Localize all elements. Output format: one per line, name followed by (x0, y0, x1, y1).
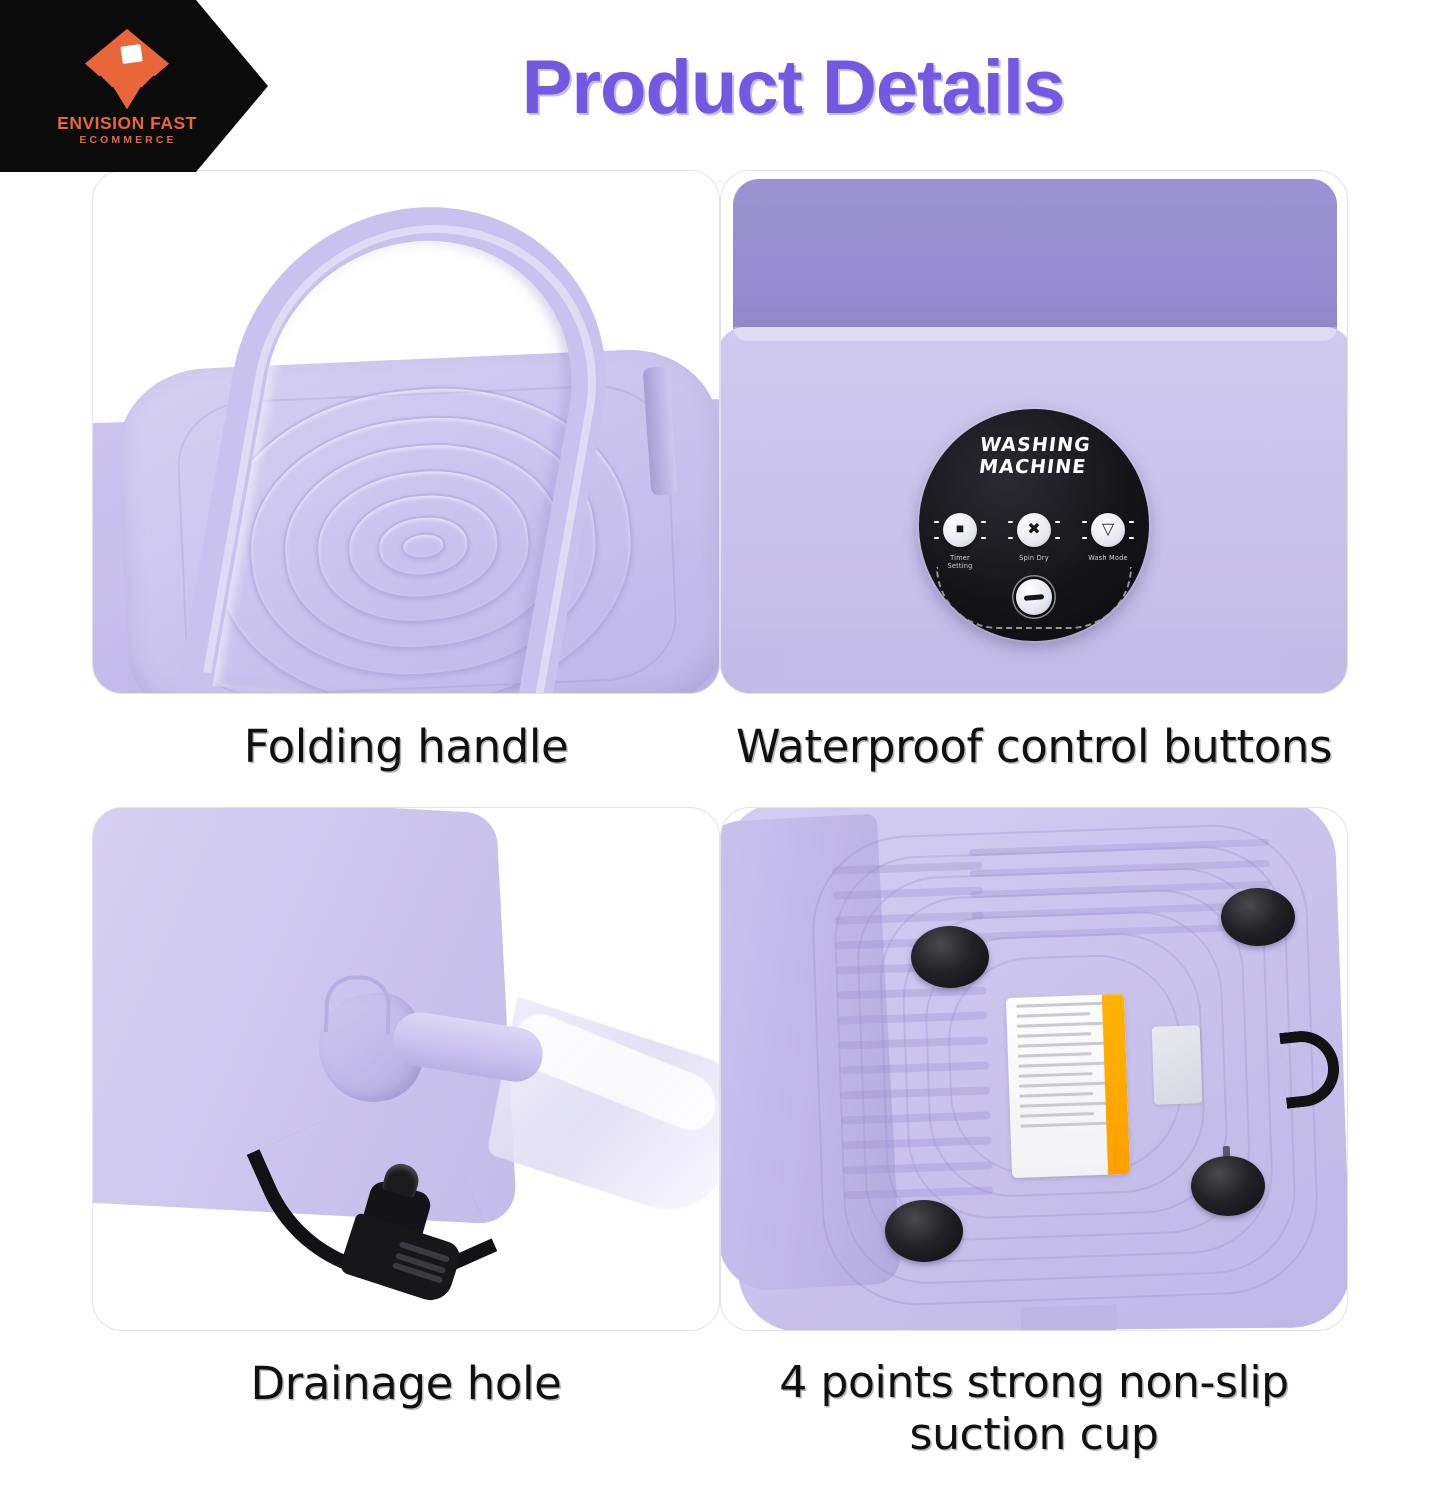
detail-cell-control-buttons: WASHING MACHINE ⏹ Timer (720, 170, 1348, 773)
detail-cell-folding-handle: Folding handle (92, 170, 720, 773)
washer-lid (733, 179, 1337, 339)
control-button-timer[interactable]: ⏹ Timer Setting (938, 513, 982, 570)
detail-cell-suction-cup: 4 points strong non-slip suction cup (720, 807, 1348, 1461)
control-button-spin-dry[interactable]: ✖ Spin Dry (1012, 513, 1056, 570)
detail-cell-drainage-hole: Drainage hole (92, 807, 720, 1461)
caption-line-1: 4 points strong non-slip (720, 1357, 1348, 1409)
control-button-label: Wash Mode (1086, 554, 1130, 562)
control-panel[interactable]: WASHING MACHINE ⏹ Timer (919, 409, 1149, 641)
detail-row: Folding handle WASHING MACHINE (0, 170, 1436, 773)
control-panel-brand: WASHING MACHINE (919, 435, 1149, 478)
power-button-icon[interactable] (1016, 579, 1052, 615)
silver-sticker (1152, 1025, 1203, 1105)
detail-row: Drainage hole (0, 807, 1436, 1461)
caption-control-buttons: Waterproof control buttons (720, 720, 1348, 773)
caption-suction-cup: 4 points strong non-slip suction cup (720, 1357, 1348, 1461)
washer-foot (720, 653, 783, 694)
brand-name: ENVISION FAST (57, 115, 197, 133)
base-tab (1020, 1304, 1117, 1331)
washer-foot (1287, 653, 1348, 694)
product-photo-suction-cup (720, 807, 1348, 1331)
suction-cup (885, 1200, 963, 1262)
suction-cup (1191, 1156, 1265, 1216)
wash-mode-icon[interactable]: ▽ (1091, 513, 1125, 547)
brand-tagline: ECOMMERCE (79, 135, 176, 146)
brand-badge: ENVISION FAST ECOMMERCE (0, 0, 268, 172)
product-photo-control-buttons: WASHING MACHINE ⏹ Timer (720, 170, 1348, 694)
chevron-logo-icon (81, 27, 173, 113)
suction-cup (1221, 888, 1295, 946)
caption-drainage-hole: Drainage hole (92, 1357, 720, 1410)
product-detail-grid: Folding handle WASHING MACHINE (0, 170, 1436, 1461)
rating-label (1006, 994, 1130, 1178)
product-photo-folding-handle (92, 170, 720, 694)
caption-line-2: suction cup (720, 1409, 1348, 1461)
control-button-label: Spin Dry (1012, 554, 1056, 562)
spin-dry-icon[interactable]: ✖ (1017, 513, 1051, 547)
control-button-wash-mode[interactable]: ▽ Wash Mode (1086, 513, 1130, 570)
caption-folding-handle: Folding handle (92, 720, 720, 773)
suction-cup (911, 926, 989, 988)
timer-icon[interactable]: ⏹ (943, 513, 977, 547)
control-button-row: ⏹ Timer Setting ✖ (919, 513, 1149, 570)
product-photo-drainage-hole (92, 807, 720, 1331)
